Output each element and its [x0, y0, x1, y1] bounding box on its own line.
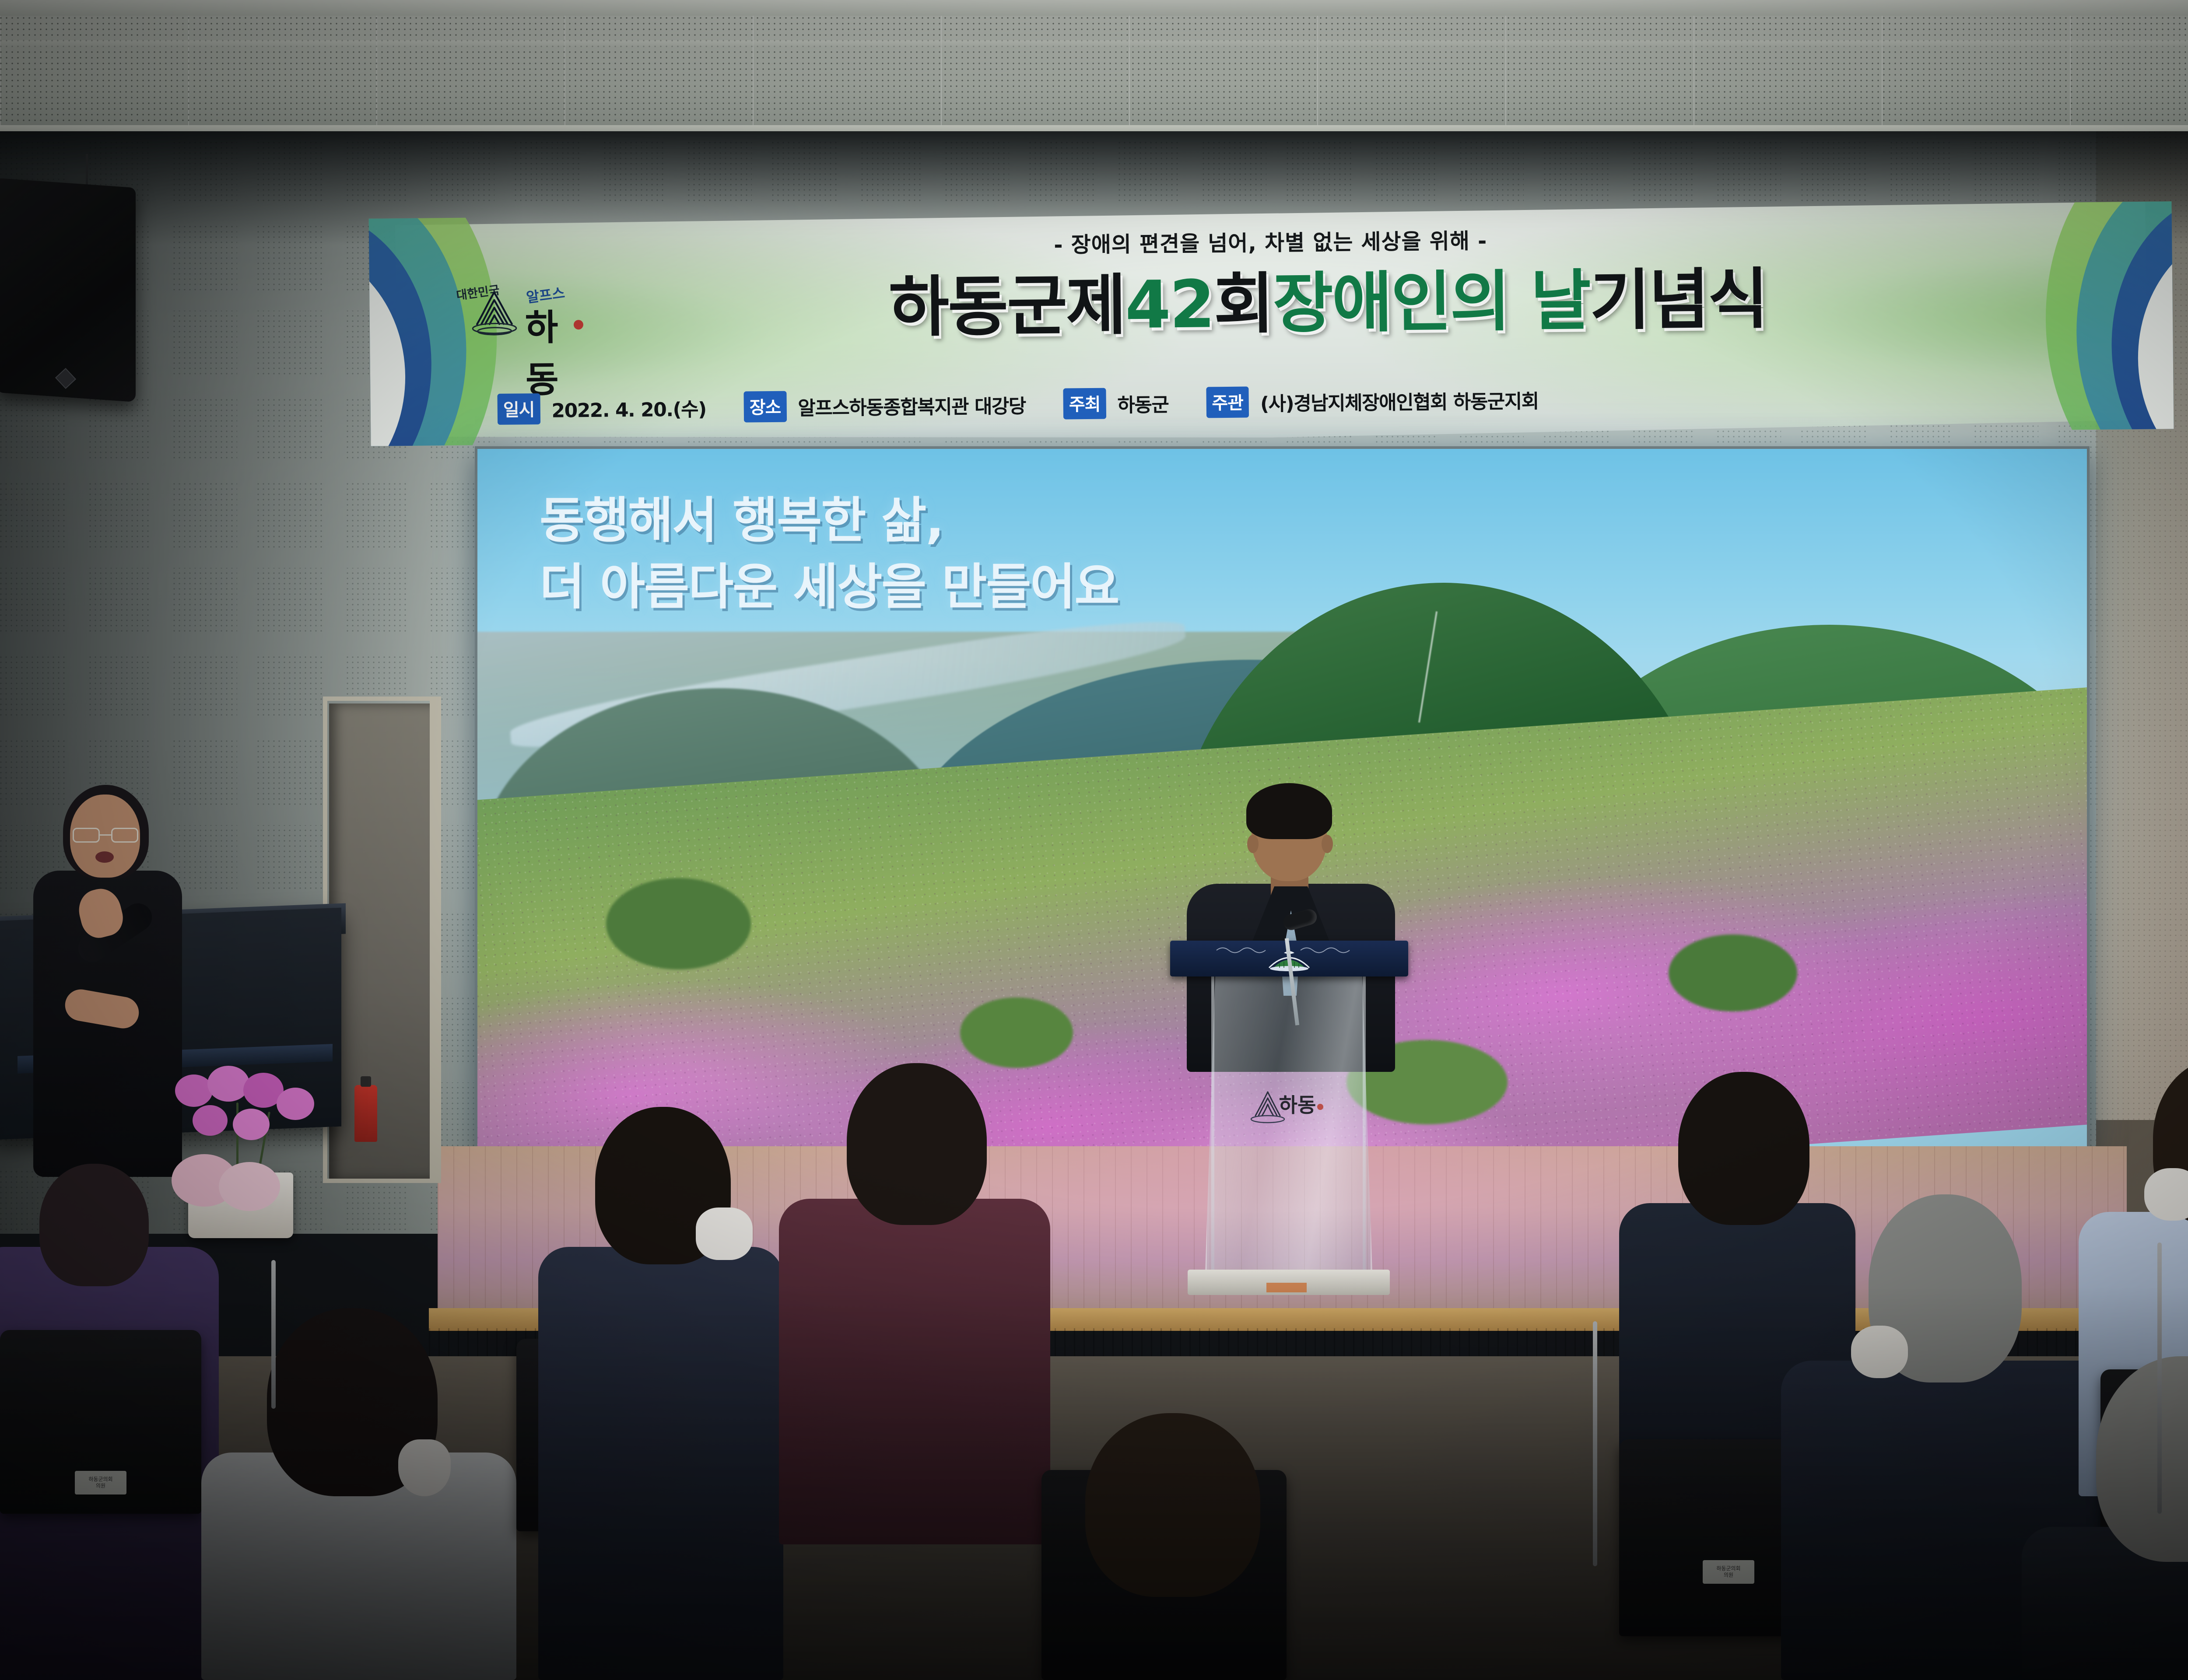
pa-speaker-left-icon	[0, 178, 136, 402]
info-chip-date: 일시	[497, 393, 540, 425]
banner-title: 하동군 제 42 회 장애인의 날 기념식	[536, 250, 2121, 357]
info-chip-host: 주최	[1063, 388, 1106, 420]
audience-member	[1059, 1413, 1287, 1680]
title-part-0: 하동군	[888, 273, 1066, 341]
podium-hadong-logo: 하동	[1245, 1085, 1332, 1133]
screen-slogan: 동행해서 행복한 삶, 더 아름다운 세상을 만들어요	[540, 487, 1546, 621]
audience-member	[779, 1063, 1050, 1544]
podium: 하동	[1186, 941, 1392, 1295]
info-chip-place: 장소	[743, 391, 786, 423]
glasses-icon	[73, 828, 138, 843]
chair-name-label: 하동군의회 의원	[1703, 1560, 1754, 1584]
screen-slogan-line2: 더 아름다운 세상을 만들어요	[540, 554, 1546, 620]
title-part-3: 회	[1213, 271, 1273, 337]
title-part-4: 장애인의 날	[1273, 268, 1590, 337]
podium-base	[1188, 1270, 1390, 1295]
audience-member	[538, 1107, 783, 1680]
title-part-1: 제	[1066, 273, 1125, 339]
event-banner: - 장애의 편견을 넘어, 차별 없는 세상을 위해 - 대한민국	[395, 202, 2148, 446]
info-value-date: 2022. 4. 20.(수)	[551, 393, 706, 423]
crutch	[271, 1260, 276, 1409]
title-part-2: 42	[1125, 272, 1214, 338]
auditorium-scene: - 장애의 편견을 넘어, 차별 없는 세상을 위해 - 대한민국	[0, 0, 2188, 1680]
speaker-wire-left	[86, 154, 88, 185]
crutch	[1593, 1321, 1597, 1566]
audience-member	[2022, 1356, 2188, 1680]
chair-name-label: 하동군의회 의원	[75, 1471, 126, 1494]
screen-slogan-line1: 동행해서 행복한 삶,	[540, 487, 1546, 554]
title-part-5: 기념식	[1589, 266, 1767, 334]
chair-label-line2: 의원	[1724, 1572, 1733, 1578]
info-chip-organizer: 주관	[1206, 386, 1249, 418]
fire-extinguisher-icon	[354, 1085, 377, 1142]
crutch	[2157, 1242, 2162, 1514]
ceiling-panel	[0, 0, 2188, 144]
mountain-fingerprint-icon	[466, 289, 522, 338]
info-value-organizer: (사)경남지체장애인협회 하동군지회	[1260, 385, 1539, 416]
chair-label-line1: 하동군의회	[1716, 1565, 1740, 1572]
chair-label-line1: 하동군의회	[88, 1476, 112, 1483]
chair[interactable]: 하동군의회 의원	[0, 1330, 201, 1514]
chair-label-line2: 의원	[96, 1483, 105, 1489]
svg-text:하동: 하동	[1279, 1093, 1316, 1117]
audience-member	[201, 1308, 516, 1680]
info-value-place: 알프스하동종합복지관 대강당	[798, 390, 1026, 420]
info-value-host: 하동군	[1117, 389, 1169, 417]
